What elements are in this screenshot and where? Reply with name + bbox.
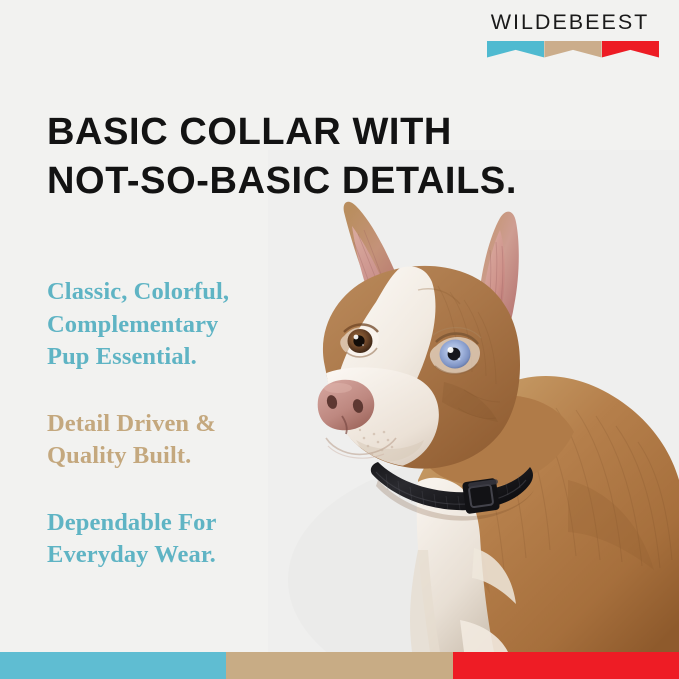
brand-banner: [487, 41, 659, 58]
feature-detail: Detail Driven & Quality Built.: [47, 408, 229, 473]
dog-photo-content: [268, 150, 679, 652]
feature-classic: Classic, Colorful, Complementary Pup Ess…: [47, 276, 229, 374]
brand-banner-segment-teal: [487, 41, 544, 58]
footer-color-bar: [0, 652, 679, 679]
brand-logo: WILDEBEEST: [480, 12, 660, 58]
product-ad-canvas: WILDEBEEST BASIC COLLAR WITH NOT-SO-BASI…: [0, 0, 679, 679]
headline: BASIC COLLAR WITH NOT-SO-BASIC DETAILS.: [47, 108, 517, 205]
brand-wordmark: WILDEBEEST: [480, 12, 660, 34]
dog-photo: [268, 150, 679, 652]
brand-banner-segment-tan: [544, 41, 601, 58]
feature-dependable: Dependable For Everyday Wear.: [47, 507, 229, 572]
brand-banner-segment-red: [602, 41, 659, 58]
footer-segment-tan: [226, 652, 452, 679]
feature-list: Classic, Colorful, Complementary Pup Ess…: [47, 276, 229, 572]
footer-segment-teal: [0, 652, 226, 679]
footer-segment-red: [453, 652, 679, 679]
